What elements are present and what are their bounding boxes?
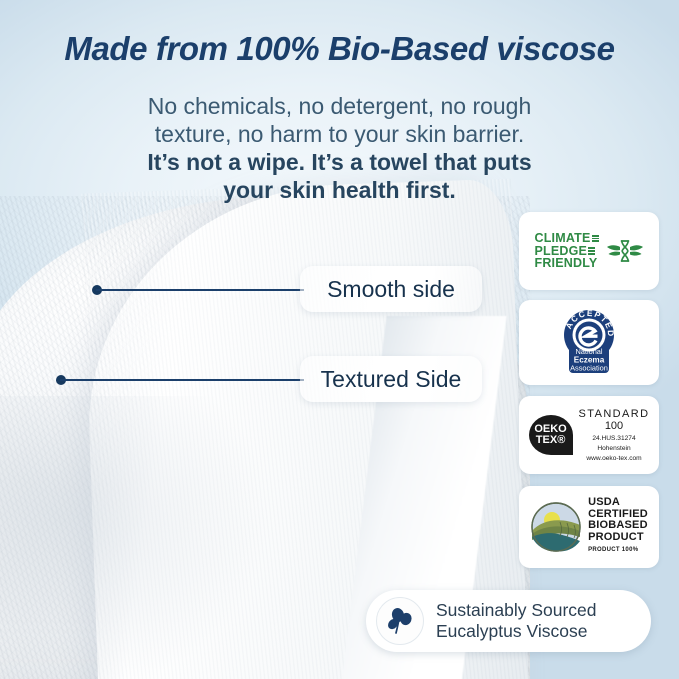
cpf-line-3: FRIENDLY: [534, 257, 597, 270]
towel-shadow: [0, 396, 270, 679]
callout-leader-line-smooth: [96, 289, 304, 291]
oeko-tex-mark-icon: OEKO TEX®: [529, 415, 573, 455]
cpf-bars-1: [592, 235, 599, 242]
oeko-institute: Hohenstein: [579, 445, 650, 453]
page-title: Made from 100% Bio-Based viscose: [0, 30, 679, 68]
badge-oeko-tex: OEKO TEX® STANDARD 100 24.HUS.31274 Hohe…: [519, 396, 659, 474]
climate-pledge-text: CLIMATE PLEDGE FRIENDLY: [534, 232, 598, 270]
usda-line-4: PRODUCT: [588, 532, 648, 544]
oeko-standard-label: STANDARD: [579, 408, 650, 420]
cpf-line-1: CLIMATE: [534, 232, 590, 245]
oeko-certificate-number: 24.HUS.31274: [579, 435, 650, 443]
bottom-line-2: Eucalyptus Viscose: [436, 621, 597, 642]
bottom-line-1: Sustainably Sourced: [436, 600, 597, 621]
subtitle-line-4: your skin health first.: [0, 176, 679, 204]
callout-label-smooth-side: Smooth side: [300, 266, 482, 312]
callout-leader-line-textured: [60, 379, 304, 381]
oeko-url: www.oeko-tex.com: [579, 455, 650, 462]
eczema-seal-icon: ACCEPTED National Eczema Association: [557, 307, 621, 379]
subtitle-line-2: texture, no harm to your skin barrier.: [0, 120, 679, 148]
oeko-mark-line-2: TEX®: [536, 435, 566, 447]
badge-usda-certified-biobased: USDA CERTIFIED BIOBASED PRODUCT PRODUCT …: [519, 486, 659, 568]
sustainably-sourced-badge: Sustainably Sourced Eucalyptus Viscose: [366, 590, 651, 652]
winged-hourglass-icon: [606, 234, 644, 268]
cpf-bars-2: [588, 247, 595, 254]
badge-climate-pledge-friendly: CLIMATE PLEDGE FRIENDLY: [519, 212, 659, 290]
usda-sub-label: PRODUCT 100%: [588, 545, 648, 557]
subtitle: No chemicals, no detergent, no rough tex…: [0, 92, 679, 204]
eucalyptus-leaf-icon-wrap: [376, 597, 424, 645]
callout-textured-text: Textured Side: [321, 366, 462, 393]
callout-smooth-text: Smooth side: [327, 276, 455, 303]
product-infographic: Made from 100% Bio-Based viscose No chem…: [0, 0, 679, 679]
callout-label-textured-side: Textured Side: [300, 356, 482, 402]
nea-line-3: Association: [570, 363, 608, 372]
eucalyptus-leaf-icon: [385, 606, 415, 636]
usda-biobased-icon: [530, 501, 582, 553]
subtitle-line-1: No chemicals, no detergent, no rough: [0, 92, 679, 120]
sustainably-sourced-text: Sustainably Sourced Eucalyptus Viscose: [436, 600, 597, 642]
subtitle-line-3: It’s not a wipe. It’s a towel that puts: [0, 148, 679, 176]
oeko-standard-number: 100: [579, 420, 650, 433]
usda-text-block: USDA CERTIFIED BIOBASED PRODUCT PRODUCT …: [588, 497, 648, 557]
badge-national-eczema-association: ACCEPTED National Eczema Association: [519, 300, 659, 385]
